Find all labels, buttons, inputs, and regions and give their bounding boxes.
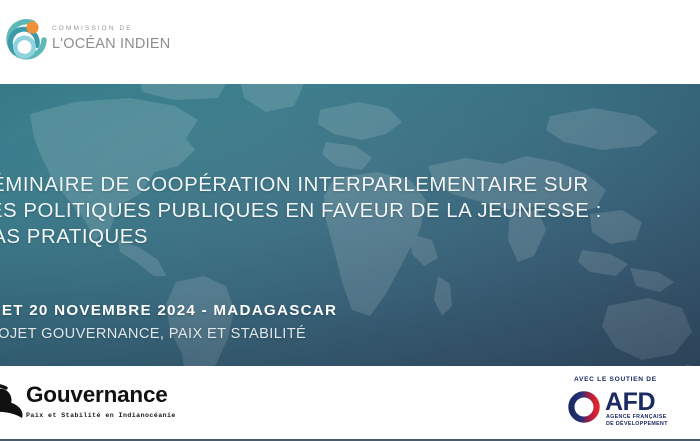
page-footer: Gouvernance Paix et Stabilité en Indiano… <box>0 366 700 441</box>
afd-ring-logo-icon <box>566 389 602 425</box>
event-title-line-3: CAS PRATIQUES <box>0 224 677 250</box>
afd-fullname-line-2: DE DÉVELOPPEMENT <box>606 421 668 427</box>
afd-logo-block: AVEC LE SOUTIEN DE AFD AGENCE FRANÇAI <box>548 372 688 434</box>
event-title: SÉMINAIRE DE COOPÉRATION INTERPARLEMENTA… <box>0 172 677 250</box>
event-subtitle: 19 ET 20 NOVEMBRE 2024 - MADAGASCAR PROJ… <box>0 300 677 344</box>
gouvernance-tagline: Paix et Stabilité en Indianocéanie <box>26 412 176 419</box>
event-project-name: PROJET GOUVERNANCE, PAIX ET STABILITÉ <box>0 324 677 344</box>
gouvernance-logo: Gouvernance Paix et Stabilité en Indiano… <box>0 372 174 432</box>
afd-support-label: AVEC LE SOUTIEN DE <box>574 376 657 383</box>
gouvernance-wordmark: Gouvernance Paix et Stabilité en Indiano… <box>26 384 176 419</box>
coi-swirl-logo-icon <box>2 14 50 66</box>
event-date-location: 19 ET 20 NOVEMBRE 2024 - MADAGASCAR <box>0 300 677 321</box>
event-title-line-1: SÉMINAIRE DE COOPÉRATION INTERPARLEMENTA… <box>0 172 677 198</box>
hero-banner: SÉMINAIRE DE COOPÉRATION INTERPARLEMENTA… <box>0 84 700 366</box>
page-header: COMMISSION DE L'OCÉAN INDIEN <box>0 0 700 84</box>
afd-fullname-line-1: AGENCE FRANÇAISE <box>606 414 667 420</box>
coi-wordmark: COMMISSION DE L'OCÉAN INDIEN <box>52 26 170 51</box>
event-title-line-2: LES POLITIQUES PUBLIQUES EN FAVEUR DE LA… <box>0 198 677 224</box>
coi-line-commission: COMMISSION DE <box>52 26 170 33</box>
coi-line-ocean-indien: L'OCÉAN INDIEN <box>52 37 170 52</box>
gouvernance-globe-mark-icon <box>0 376 26 428</box>
event-banner-page: COMMISSION DE L'OCÉAN INDIEN <box>0 0 700 441</box>
afd-acronym: AFD <box>605 390 655 415</box>
gouvernance-name: Gouvernance <box>26 384 176 407</box>
